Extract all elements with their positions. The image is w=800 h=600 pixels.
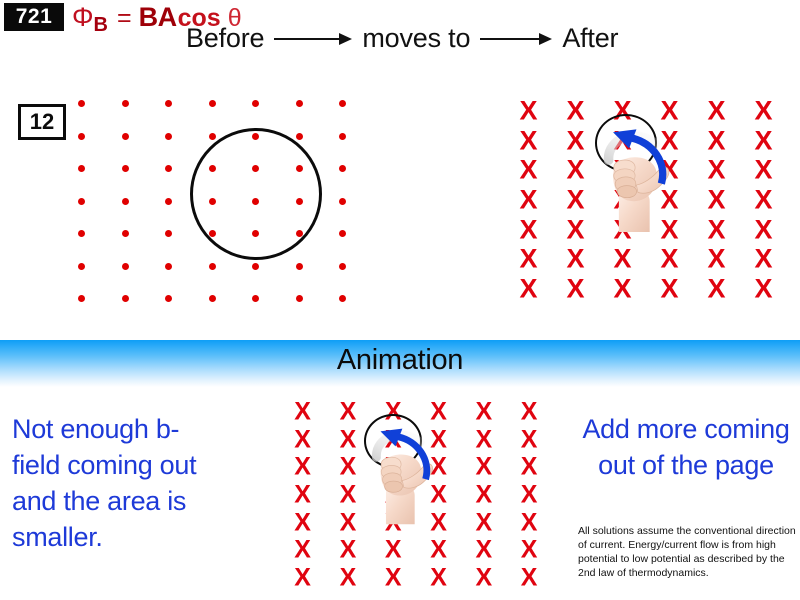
field-into-page-cross: X [294,538,311,563]
field-into-page-cross: X [476,510,493,535]
field-out-of-page-dot [165,263,172,270]
field-into-page-cross: X [294,482,311,507]
field-into-page-cross: X [430,566,447,591]
field-out-of-page-dot [78,230,85,237]
field-into-page-cross: X [340,455,357,480]
field-into-page-cross: X [707,186,725,213]
field-into-page-cross: X [521,538,538,563]
field-into-page-cross: X [476,566,493,591]
field-out-of-page-dot [78,165,85,172]
field-into-page-cross: X [613,246,631,273]
field-out-of-page-dot [296,295,303,302]
long-right-arrow-icon [274,32,352,46]
field-out-of-page-dot [296,100,303,107]
field-out-of-page-dot [122,133,129,140]
field-into-page-cross: X [340,399,357,424]
field-out-of-page-dot [339,295,346,302]
field-into-page-cross: X [294,427,311,452]
field-out-of-page-dot [122,263,129,270]
field-into-page-cross: X [294,566,311,591]
field-out-of-page-dot [209,100,216,107]
field-out-of-page-dot [252,295,259,302]
field-into-page-cross: X [754,97,772,124]
field-into-page-cross: X [660,276,678,303]
right-hand-rule-fist [360,421,442,525]
right-hand-rule-fist [591,122,679,232]
field-out-of-page-dot [165,100,172,107]
field-out-of-page-dot [296,133,303,140]
field-out-of-page-dot [209,133,216,140]
field-out-of-page-dot [78,133,85,140]
field-out-of-page-dot [339,165,346,172]
caption-left: Not enough b-field coming out and the ar… [12,412,227,556]
field-out-of-page-dot [78,198,85,205]
field-out-of-page-dot [165,133,172,140]
field-into-page-cross: X [519,97,537,124]
fine-print-disclaimer: All solutions assume the conventional di… [578,525,796,580]
after-field-diagram: XXXXXXXXXXXXXXXXXXXXXXXXXXXXXXXXXXXXXXXX… [505,96,787,304]
after-label: After [562,23,618,54]
field-into-page-cross: X [294,455,311,480]
animation-field-diagram: XXXXXXXXXXXXXXXXXXXXXXXXXXXXXXXXXXXXXXXX… [280,398,552,592]
field-out-of-page-dot [252,263,259,270]
caption-right: Add more coming out of the page [575,412,797,484]
field-into-page-cross: X [476,482,493,507]
field-out-of-page-dot [78,100,85,107]
field-out-of-page-dot [122,165,129,172]
before-after-sequence: Before moves to After [186,23,618,54]
current-loop-circle [190,128,322,260]
field-into-page-cross: X [660,97,678,124]
equation-equals-sign: = [117,4,132,33]
field-into-page-cross: X [521,566,538,591]
field-into-page-cross: X [340,427,357,452]
field-into-page-cross: X [707,276,725,303]
field-into-page-cross: X [519,276,537,303]
field-into-page-cross: X [521,399,538,424]
field-into-page-cross: X [430,538,447,563]
equation-ba-term: BA [139,2,177,33]
field-into-page-cross: X [521,510,538,535]
field-out-of-page-dot [339,230,346,237]
field-into-page-cross: X [385,538,402,563]
field-into-page-cross: X [519,216,537,243]
slide-canvas: 721 Φ B = BA cos θ Before moves to After… [0,0,800,600]
field-into-page-cross: X [754,216,772,243]
field-out-of-page-dot [339,198,346,205]
field-into-page-cross: X [521,482,538,507]
field-into-page-cross: X [707,157,725,184]
field-into-page-cross: X [566,157,584,184]
field-out-of-page-dot [165,165,172,172]
field-into-page-cross: X [519,127,537,154]
field-into-page-cross: X [707,216,725,243]
field-out-of-page-dot [165,295,172,302]
field-into-page-cross: X [754,186,772,213]
field-out-of-page-dot [209,263,216,270]
before-label: Before [186,23,264,54]
field-into-page-cross: X [340,566,357,591]
field-out-of-page-dot [78,263,85,270]
field-into-page-cross: X [707,127,725,154]
field-into-page-cross: X [707,97,725,124]
field-out-of-page-dot [78,295,85,302]
field-into-page-cross: X [521,455,538,480]
field-into-page-cross: X [566,186,584,213]
field-into-page-cross: X [566,246,584,273]
field-into-page-cross: X [566,127,584,154]
field-out-of-page-dot [339,133,346,140]
field-into-page-cross: X [519,186,537,213]
equation-subscript-b: B [94,14,108,37]
field-into-page-cross: X [519,246,537,273]
field-into-page-cross: X [707,246,725,273]
field-out-of-page-dot [122,198,129,205]
field-into-page-cross: X [754,276,772,303]
field-out-of-page-dot [339,100,346,107]
field-into-page-cross: X [754,127,772,154]
field-out-of-page-dot [296,263,303,270]
field-into-page-cross: X [660,246,678,273]
field-into-page-cross: X [476,538,493,563]
field-into-page-cross: X [566,97,584,124]
field-out-of-page-dot [252,100,259,107]
field-out-of-page-dot [122,295,129,302]
field-into-page-cross: X [613,276,631,303]
moves-to-label: moves to [362,23,470,54]
field-into-page-cross: X [340,538,357,563]
slide-number-badge: 721 [4,3,64,31]
field-into-page-cross: X [294,510,311,535]
field-into-page-cross: X [476,455,493,480]
field-into-page-cross: X [566,216,584,243]
field-into-page-cross: X [294,399,311,424]
field-out-of-page-dot [209,295,216,302]
field-into-page-cross: X [754,246,772,273]
field-into-page-cross: X [519,157,537,184]
field-out-of-page-dot [122,230,129,237]
field-into-page-cross: X [476,427,493,452]
field-into-page-cross: X [476,399,493,424]
field-into-page-cross: X [566,276,584,303]
field-out-of-page-dot [165,230,172,237]
field-into-page-cross: X [521,427,538,452]
field-into-page-cross: X [340,482,357,507]
animation-banner-title: Animation [0,344,800,377]
field-out-of-page-dot [165,198,172,205]
before-field-diagram [78,100,346,300]
field-into-page-cross: X [340,510,357,535]
field-into-page-cross: X [385,566,402,591]
field-out-of-page-dot [339,263,346,270]
panel-number-box: 12 [18,104,66,140]
field-out-of-page-dot [122,100,129,107]
long-right-arrow-icon [480,32,552,46]
field-into-page-cross: X [754,157,772,184]
equation-phi-symbol: Φ [72,2,94,33]
